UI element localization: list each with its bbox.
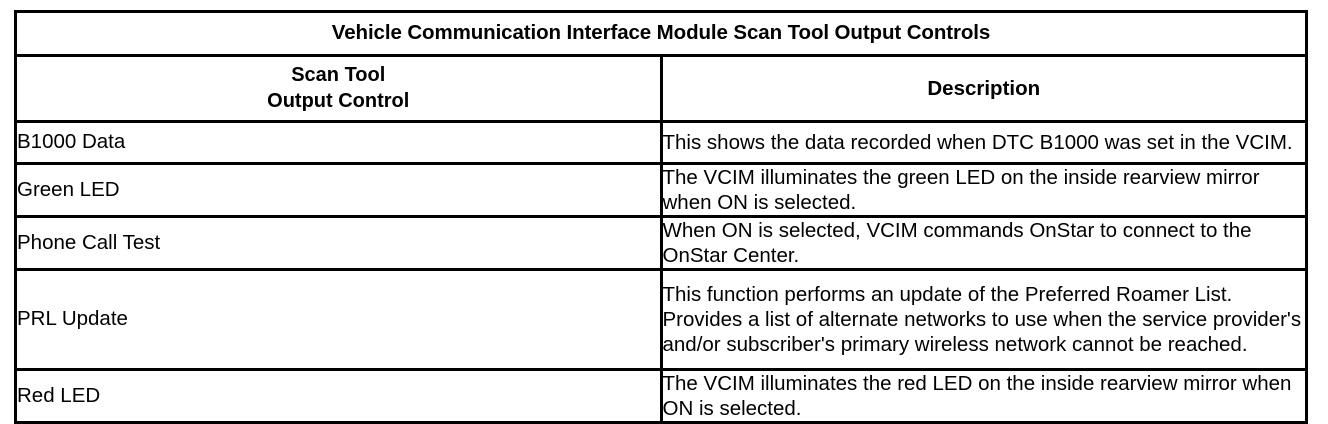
row-control-prl-update: PRL Update	[16, 270, 662, 370]
table-row: Green LED The VCIM illuminates the green…	[16, 164, 1307, 217]
table-row: Red LED The VCIM illuminates the red LED…	[16, 370, 1307, 423]
table-row: Phone Call Test When ON is selected, VCI…	[16, 217, 1307, 270]
column-header-description: Description	[661, 56, 1307, 122]
row-control-red-led: Red LED	[16, 370, 662, 423]
row-control-green-led: Green LED	[16, 164, 662, 217]
column-header-line-1: Scan Tool	[291, 64, 385, 86]
row-description-prl-update: This function performs an update of the …	[661, 270, 1307, 370]
row-control-phone-call-test: Phone Call Test	[16, 217, 662, 270]
table-header-row: Scan Tool Output Control Description	[16, 56, 1307, 122]
table-title-row: Vehicle Communication Interface Module S…	[16, 12, 1307, 56]
row-description-red-led: The VCIM illuminates the red LED on the …	[661, 370, 1307, 423]
column-header-scan-tool-output-control: Scan Tool Output Control	[16, 56, 662, 122]
table-row: PRL Update This function performs an upd…	[16, 270, 1307, 370]
row-description-phone-call-test: When ON is selected, VCIM commands OnSta…	[661, 217, 1307, 270]
column-header-line-2: Output Control	[267, 90, 409, 112]
row-control-b1000-data: B1000 Data	[16, 122, 662, 164]
table-row: B1000 Data This shows the data recorded …	[16, 122, 1307, 164]
scan-tool-output-controls-table: Vehicle Communication Interface Module S…	[14, 10, 1308, 424]
page-root: Vehicle Communication Interface Module S…	[0, 0, 1328, 404]
table-title: Vehicle Communication Interface Module S…	[16, 12, 1307, 56]
row-description-b1000-data: This shows the data recorded when DTC B1…	[661, 122, 1307, 164]
row-description-green-led: The VCIM illuminates the green LED on th…	[661, 164, 1307, 217]
